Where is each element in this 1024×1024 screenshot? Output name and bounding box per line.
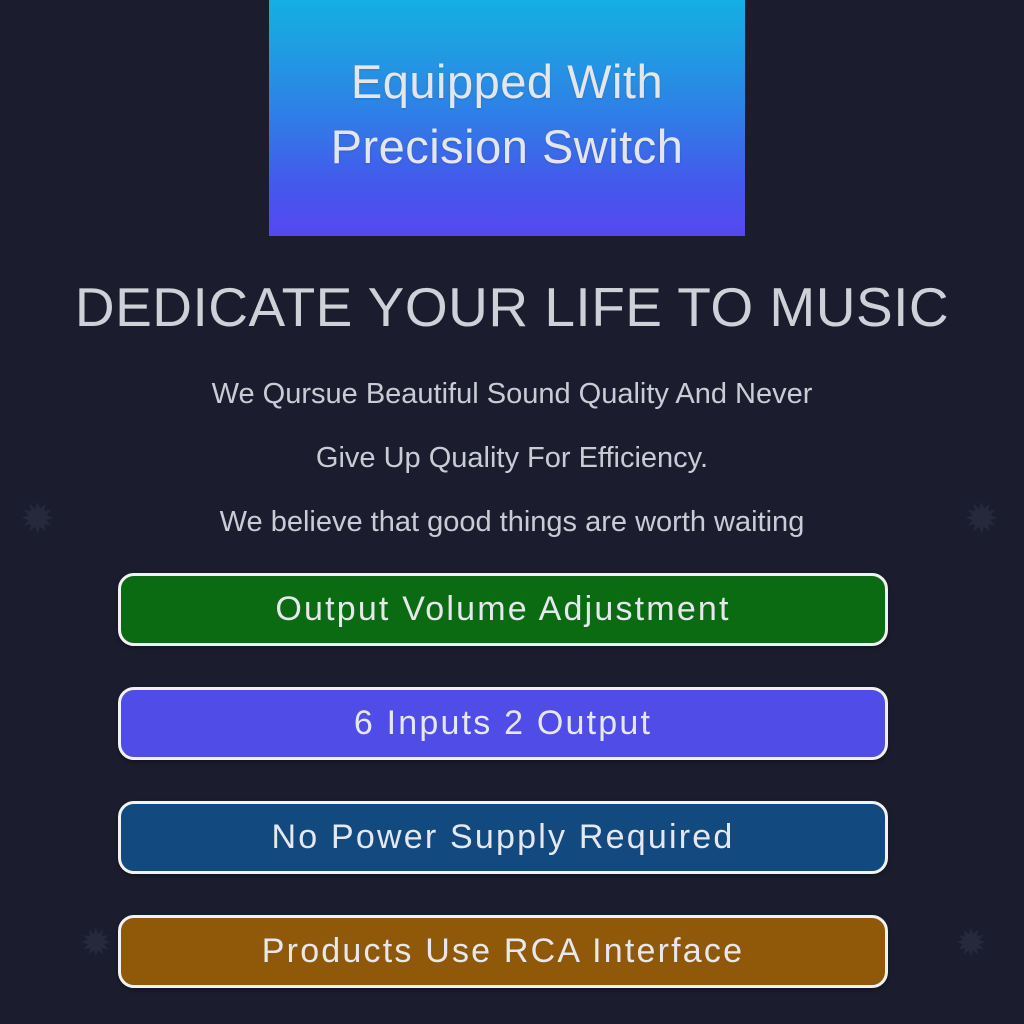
feature-button-output-volume-adjustment[interactable]: Output Volume Adjustment: [118, 573, 888, 646]
feature-button-inputs-outputs[interactable]: 6 Inputs 2 Output: [118, 687, 888, 760]
hero-banner-line-2: Precision Switch: [331, 119, 684, 174]
snowflake-icon-right-bottom: ✹: [955, 925, 987, 963]
feature-label: No Power Supply Required: [272, 818, 735, 857]
hero-banner: Equipped With Precision Switch: [269, 0, 745, 236]
subtitle-block: We Qursue Beautiful Sound Quality And Ne…: [0, 362, 1024, 554]
snowflake-icon-left-bottom: ✹: [80, 925, 112, 963]
promo-page: ✹ ✹ ✹ ✹ Equipped With Precision Switch D…: [0, 0, 1024, 1024]
page-title: DEDICATE YOUR LIFE TO MUSIC: [0, 275, 1024, 339]
hero-banner-line-1: Equipped With: [351, 54, 663, 109]
feature-button-rca-interface[interactable]: Products Use RCA Interface: [118, 915, 888, 988]
feature-label: Products Use RCA Interface: [262, 932, 744, 971]
feature-label: Output Volume Adjustment: [275, 590, 730, 629]
subtitle-line-2: Give Up Quality For Efficiency.: [0, 426, 1024, 490]
subtitle-line-3: We believe that good things are worth wa…: [0, 490, 1024, 554]
feature-label: 6 Inputs 2 Output: [354, 704, 652, 743]
subtitle-line-1: We Qursue Beautiful Sound Quality And Ne…: [0, 362, 1024, 426]
feature-list: Output Volume Adjustment 6 Inputs 2 Outp…: [118, 573, 888, 988]
feature-button-no-power-supply-required[interactable]: No Power Supply Required: [118, 801, 888, 874]
